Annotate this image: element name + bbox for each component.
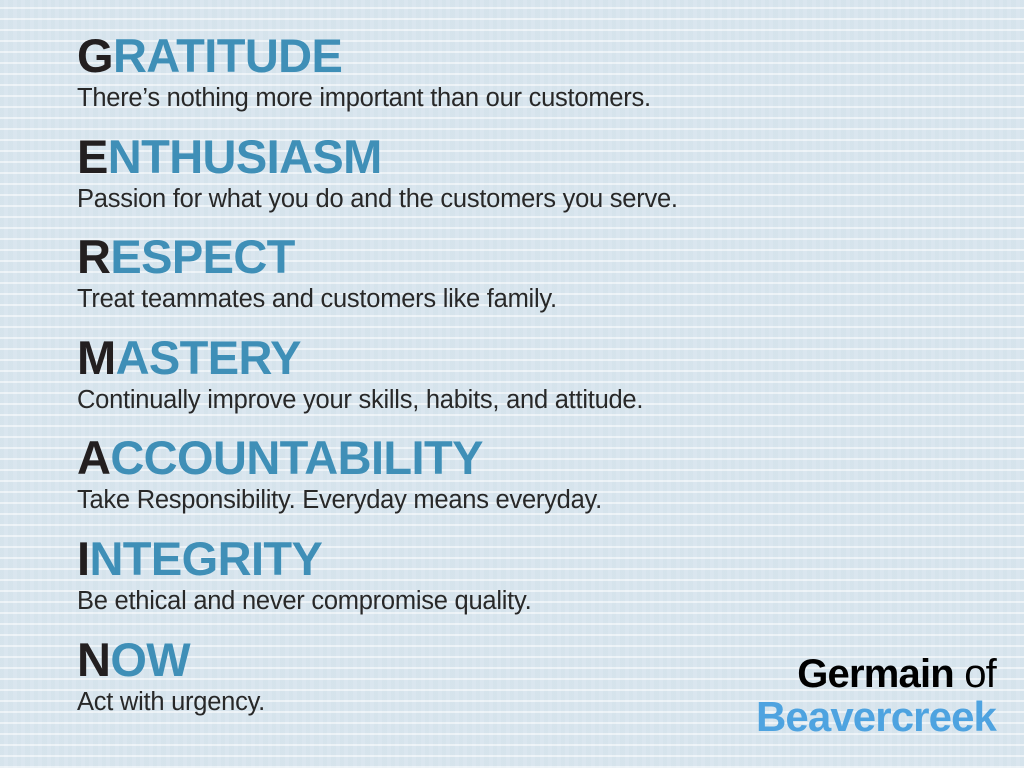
core-values-list: GRATITUDE There’s nothing more important… — [77, 33, 1007, 716]
value-heading-accountability: ACCOUNTABILITY — [77, 435, 1007, 481]
value-heading-remainder: NTEGRITY — [89, 532, 322, 585]
value-heading-remainder: NTHUSIASM — [108, 130, 382, 183]
value-block-mastery: MASTERY Continually improve your skills,… — [77, 335, 1007, 415]
value-initial-letter: I — [77, 532, 89, 585]
value-initial-letter: G — [77, 29, 113, 82]
value-heading-gratitude: GRATITUDE — [77, 33, 1007, 79]
value-description-gratitude: There’s nothing more important than our … — [77, 84, 1007, 113]
value-heading-remainder: CCOUNTABILITY — [110, 431, 483, 484]
brand-connector — [954, 652, 964, 696]
brand-connector-word: of — [964, 652, 996, 696]
value-heading-remainder: OW — [110, 633, 190, 686]
value-block-accountability: ACCOUNTABILITY Take Responsibility. Ever… — [77, 435, 1007, 515]
value-initial-letter: N — [77, 633, 110, 686]
value-description-enthusiasm: Passion for what you do and the customer… — [77, 185, 1007, 214]
value-initial-letter: E — [77, 130, 108, 183]
value-heading-enthusiasm: ENTHUSIASM — [77, 134, 1007, 180]
value-description-integrity: Be ethical and never compromise quality. — [77, 587, 1007, 616]
value-description-respect: Treat teammates and customers like famil… — [77, 285, 1007, 314]
value-initial-letter: M — [77, 331, 116, 384]
brand-name: Germain — [797, 652, 954, 696]
value-heading-mastery: MASTERY — [77, 335, 1007, 381]
brand-location: Beavercreek — [756, 695, 996, 740]
value-block-respect: RESPECT Treat teammates and customers li… — [77, 234, 1007, 314]
value-description-mastery: Continually improve your skills, habits,… — [77, 386, 1007, 415]
brand-primary-line: Germain of — [756, 654, 996, 696]
poster-content: GRATITUDE There’s nothing more important… — [0, 0, 1024, 768]
value-block-gratitude: GRATITUDE There’s nothing more important… — [77, 33, 1007, 113]
value-heading-respect: RESPECT — [77, 234, 1007, 280]
value-initial-letter: A — [77, 431, 110, 484]
value-block-integrity: INTEGRITY Be ethical and never compromis… — [77, 536, 1007, 616]
value-block-enthusiasm: ENTHUSIASM Passion for what you do and t… — [77, 134, 1007, 214]
value-heading-integrity: INTEGRITY — [77, 536, 1007, 582]
brand-logo: Germain of Beavercreek — [756, 654, 996, 740]
value-heading-remainder: RATITUDE — [113, 29, 342, 82]
value-description-accountability: Take Responsibility. Everyday means ever… — [77, 486, 1007, 515]
value-initial-letter: R — [77, 230, 110, 283]
value-heading-remainder: ASTERY — [116, 331, 301, 384]
value-heading-remainder: ESPECT — [110, 230, 294, 283]
values-poster: GRATITUDE There’s nothing more important… — [0, 0, 1024, 768]
